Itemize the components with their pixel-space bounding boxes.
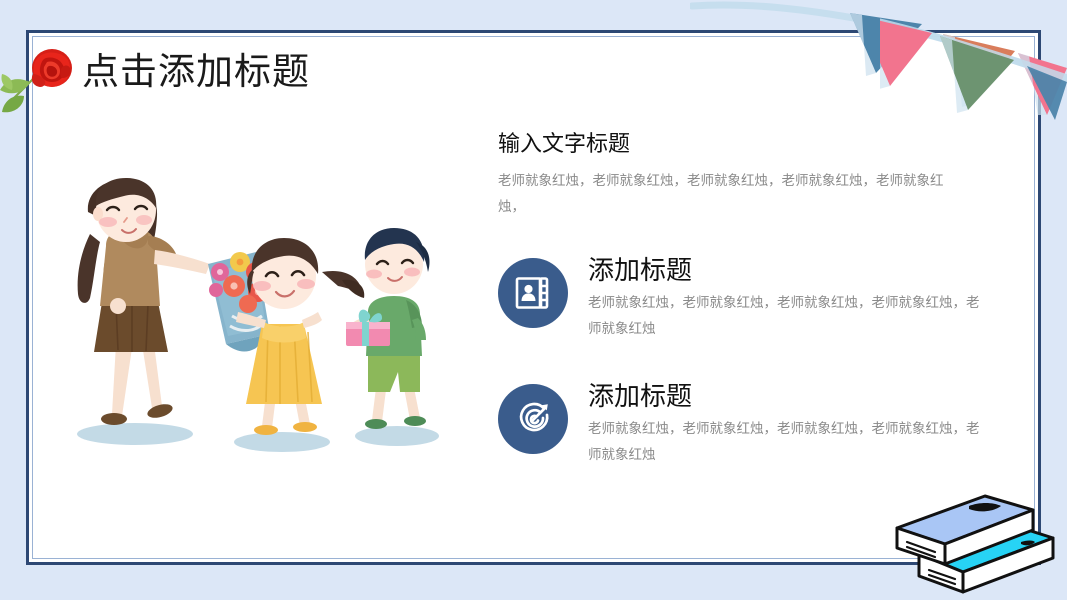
figure-teacher	[78, 178, 210, 425]
target-arrow-icon	[514, 400, 552, 438]
content-block-3[interactable]: 添加标题 老师就象红烛，老师就象红烛，老师就象红烛，老师就象红烛，老师就象红烛	[498, 380, 998, 468]
block-1-title: 输入文字标题	[498, 130, 998, 160]
content-block-2[interactable]: 添加标题 老师就象红烛，老师就象红烛，老师就象红烛，老师就象红烛，老师就象红烛	[498, 254, 998, 342]
teacher-and-children-illustration	[60, 176, 470, 461]
figure-boy	[346, 228, 430, 429]
block-2-text: 添加标题 老师就象红烛，老师就象红烛，老师就象红烛，老师就象红烛，老师就象红烛	[588, 254, 998, 342]
block-2-title: 添加标题	[588, 254, 998, 288]
slide-canvas: 点击添加标题	[0, 0, 1067, 600]
block-3-body: 老师就象红烛，老师就象红烛，老师就象红烛，老师就象红烛，老师就象红烛	[588, 416, 988, 468]
block-1-body: 老师就象红烛，老师就象红烛，老师就象红烛，老师就象红烛，老师就象红烛，	[498, 168, 958, 220]
block-3-icon-circle[interactable]	[498, 384, 568, 454]
address-book-icon	[514, 274, 552, 312]
content-column: 输入文字标题 老师就象红烛，老师就象红烛，老师就象红烛，老师就象红烛，老师就象红…	[498, 130, 998, 506]
block-3-title: 添加标题	[588, 380, 998, 414]
block-2-icon-circle[interactable]	[498, 258, 568, 328]
stacked-books-icon	[881, 472, 1061, 600]
page-title: 点击添加标题	[82, 46, 310, 98]
content-block-1: 输入文字标题 老师就象红烛，老师就象红烛，老师就象红烛，老师就象红烛，老师就象红…	[498, 130, 998, 220]
rose-icon	[0, 34, 96, 120]
block-3-text: 添加标题 老师就象红烛，老师就象红烛，老师就象红烛，老师就象红烛，老师就象红烛	[588, 380, 998, 468]
block-2-body: 老师就象红烛，老师就象红烛，老师就象红烛，老师就象红烛，老师就象红烛	[588, 290, 988, 342]
